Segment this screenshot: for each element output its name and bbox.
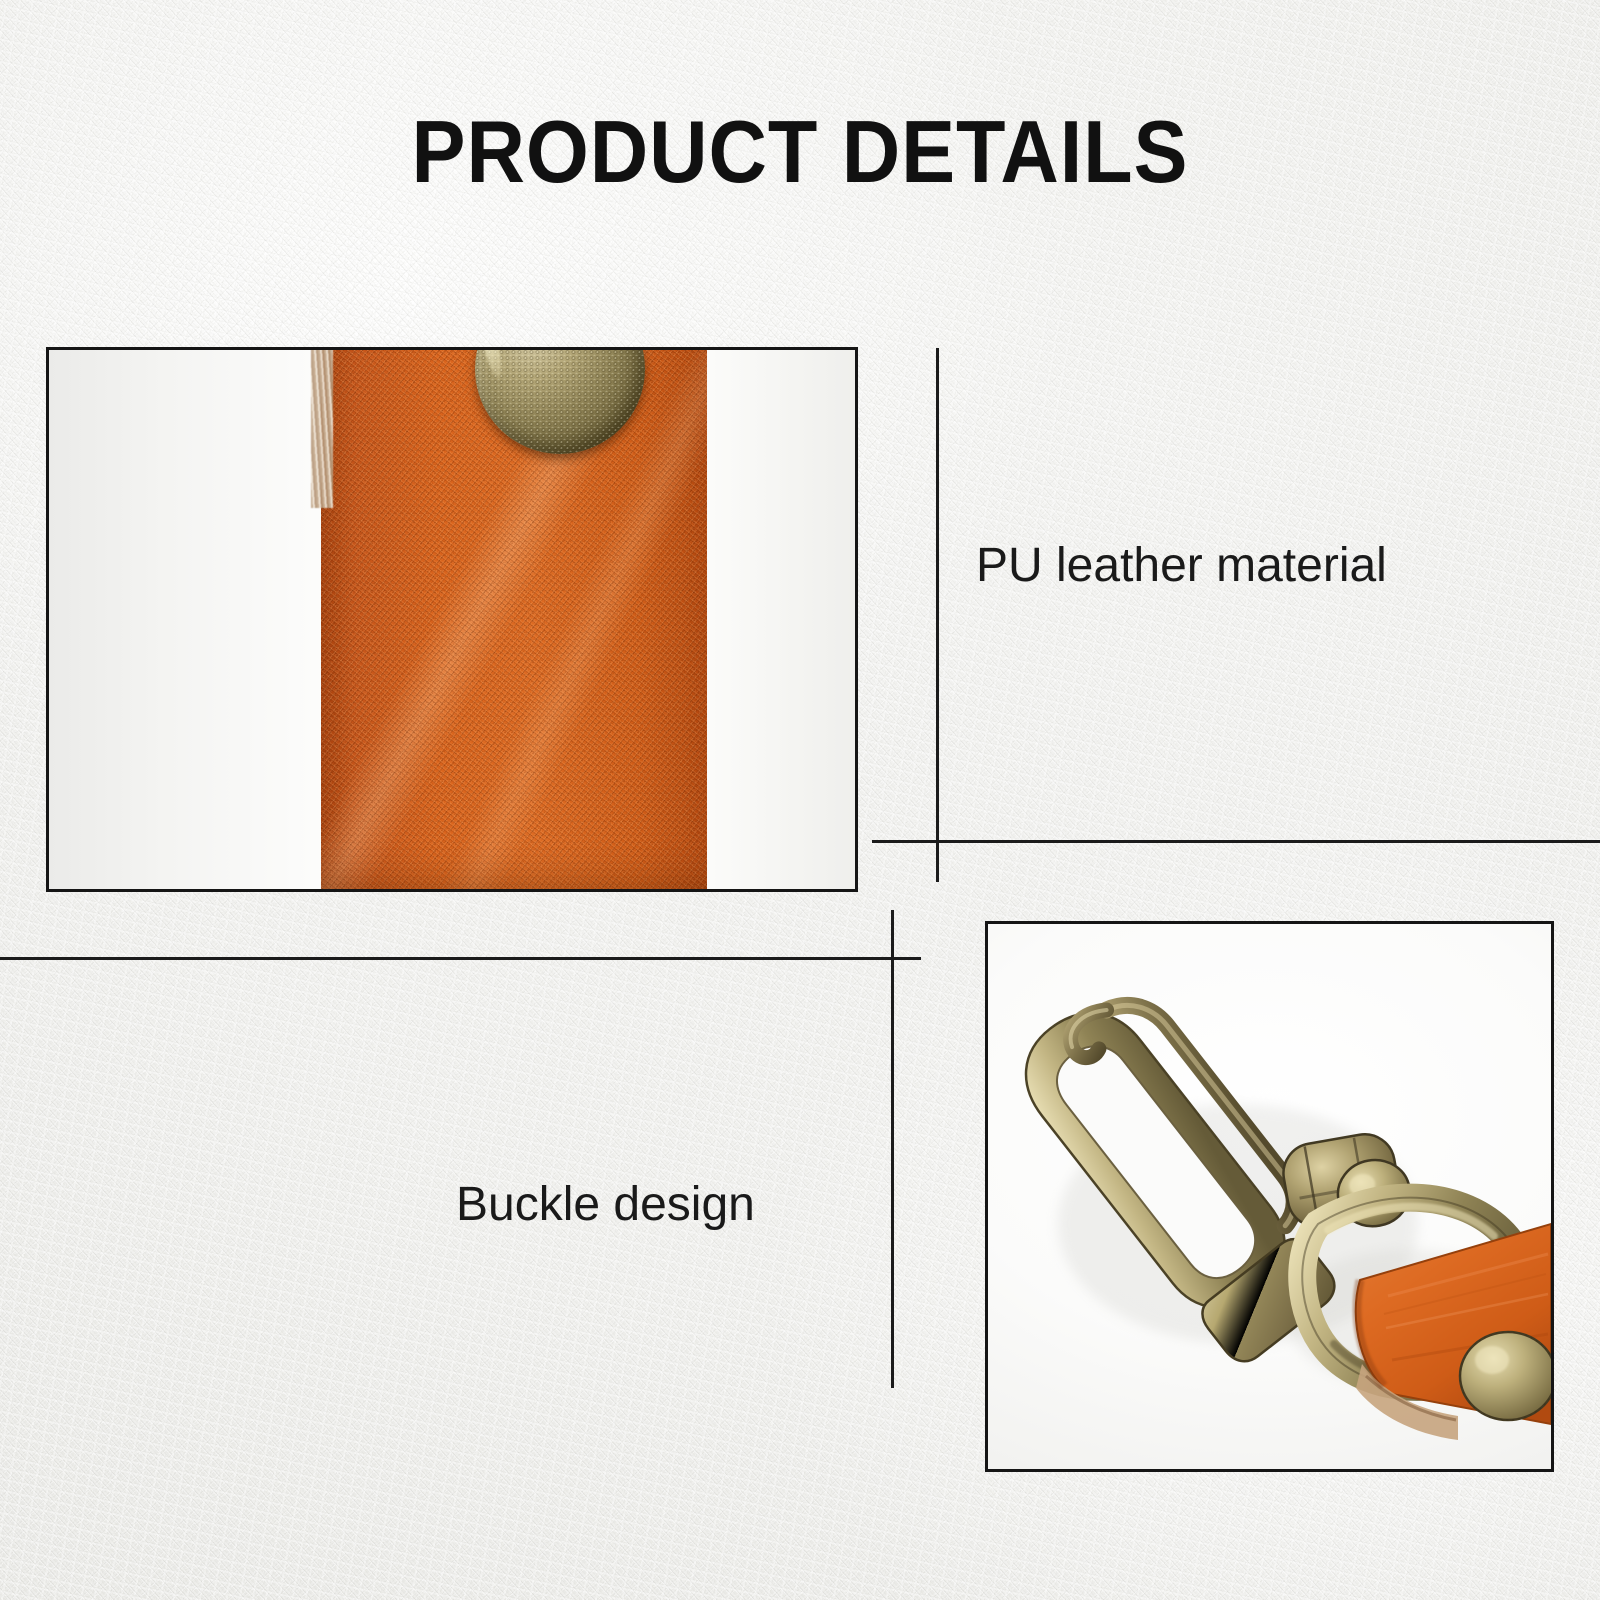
- photo-backdrop-left: [49, 350, 339, 889]
- photo-pu-leather: [46, 347, 858, 892]
- photo-pu-leather-content: [49, 350, 855, 889]
- feature-label-buckle: Buckle design: [456, 1176, 755, 1234]
- photo-buckle-content: [988, 924, 1551, 1469]
- product-details-infographic: PRODUCT DETAILS PU leather material: [0, 0, 1600, 1600]
- swivel-snap-hook-illustration: [988, 924, 1551, 1469]
- connector-line-vertical-upper: [936, 348, 939, 882]
- connector-line-horizontal-upper: [872, 840, 1600, 843]
- connector-line-horizontal-lower: [0, 957, 921, 960]
- leather-suede-edge: [311, 350, 333, 508]
- feature-label-pu-leather: PU leather material: [976, 537, 1387, 595]
- photo-buckle: [985, 921, 1554, 1472]
- page-title: PRODUCT DETAILS: [64, 104, 1536, 200]
- connector-line-vertical-lower: [891, 910, 894, 1388]
- photo-backdrop-right: [685, 350, 855, 889]
